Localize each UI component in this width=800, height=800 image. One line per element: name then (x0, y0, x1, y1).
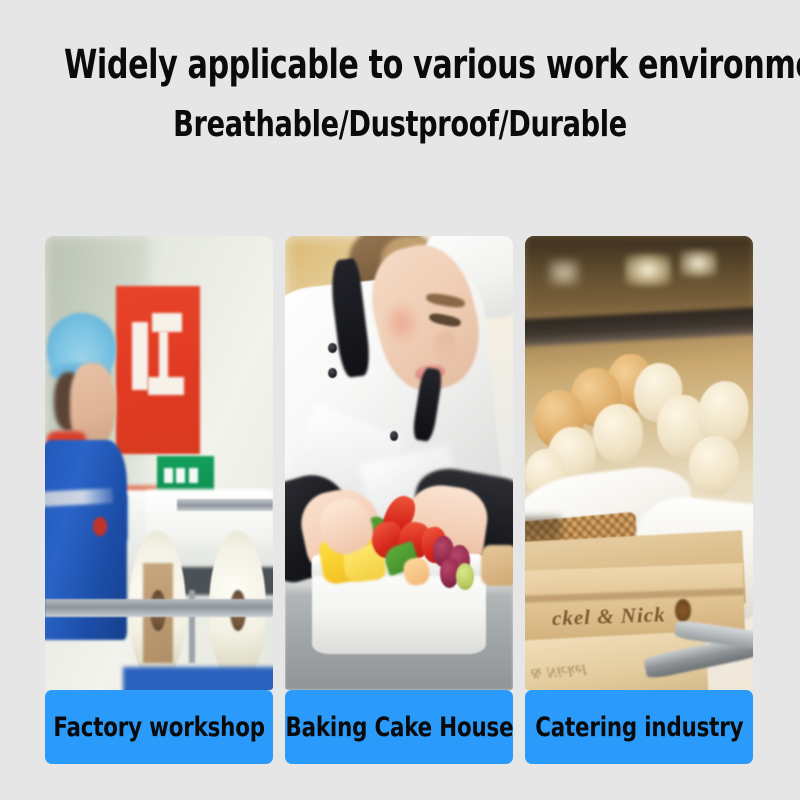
machine-shaft (45, 599, 273, 617)
scenario-card-bakery[interactable]: Baking Cake House (285, 236, 513, 766)
factory-sign-glyph (148, 377, 184, 395)
caption-label: Baking Cake House (285, 712, 513, 743)
factory-green-sign-glyph (176, 468, 185, 483)
caption-label: Factory workshop (53, 712, 264, 743)
worker-badge (93, 517, 107, 535)
factory-workshop-photo (45, 236, 273, 690)
caption-bar-catering[interactable]: Catering industry (525, 690, 753, 764)
catering-lamp (625, 254, 671, 286)
factory-green-sign-glyph (164, 468, 173, 483)
scenario-card-row: Factory workshop (45, 236, 755, 766)
bread-roll (689, 436, 739, 495)
catering-industry-photo: ckel & Nick & Nickel (525, 236, 753, 690)
scenario-card-factory[interactable]: Factory workshop (45, 236, 273, 766)
headline-primary: Widely applicable to various work enviro… (64, 42, 736, 88)
scenario-card-catering[interactable]: ckel & Nick & Nickel Catering industry (525, 236, 753, 766)
chef-nose (435, 331, 456, 363)
bread-piece (481, 545, 513, 586)
caption-bar-factory[interactable]: Factory workshop (45, 690, 273, 764)
caption-label: Catering industry (535, 712, 743, 743)
baking-cake-house-photo (285, 236, 513, 690)
factory-green-sign-glyph (189, 468, 198, 483)
chef-cheek-blush (383, 300, 419, 345)
crate-brand-text: ckel & Nick (552, 599, 681, 635)
promo-banner: Widely applicable to various work enviro… (0, 0, 800, 800)
caption-bar-bakery[interactable]: Baking Cake House (285, 690, 513, 764)
catering-lamp (548, 259, 580, 286)
headline-secondary: Breathable/Dustproof/Durable (64, 104, 736, 146)
factory-red-sign (116, 286, 200, 454)
factory-sign-glyph (132, 322, 148, 390)
chef-jacket-button (328, 368, 336, 378)
catering-lamp (680, 250, 716, 277)
factory-upper-shaft (177, 499, 273, 511)
factory-bench (123, 667, 273, 690)
chef-jacket-button (328, 343, 336, 353)
factory-sign-glyph (152, 313, 182, 332)
